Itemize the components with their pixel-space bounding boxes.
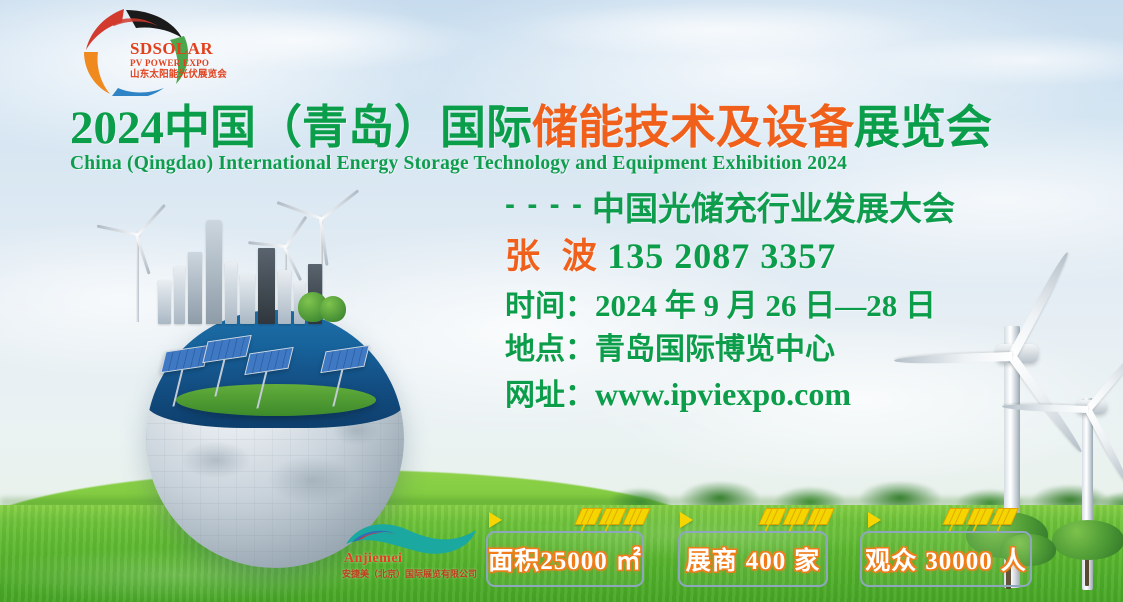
contact-name: 张 波 xyxy=(505,237,603,276)
date-label: 时间： xyxy=(505,290,595,323)
venue-value: 青岛国际博览中心 xyxy=(595,333,835,366)
arrow-icon-1 xyxy=(489,512,502,528)
conference-title: 中国光储充行业发展大会 xyxy=(592,190,955,227)
stat-badge-visitors: 观众 30000 人 xyxy=(860,531,1032,587)
stat-badge-area: 面积25000 ㎡ xyxy=(486,531,644,587)
logo-sub-text: PV POWER EXPO xyxy=(130,59,240,68)
logo-text-block: SDSOLAR PV POWER EXPO 山东太阳能光伏展览会 xyxy=(130,40,240,80)
url-label: 网址： xyxy=(505,379,595,412)
dash-prefix: - - - - xyxy=(505,190,584,220)
stat-badge-exhibitors-text: 展商 400 家 xyxy=(686,541,820,577)
solar-panel-cluster-3 xyxy=(946,506,1022,532)
title-part2: 展览会 xyxy=(854,101,992,153)
organizer-en-name: Anjiemei xyxy=(344,551,402,567)
title-highlight: 储能技术及设备 xyxy=(532,101,854,153)
organizer-logo: Anjiemei 安捷美（北京）国际展览有限公司 xyxy=(336,518,482,584)
contact-line: 张 波 135 2087 3357 xyxy=(505,238,1105,274)
event-info-block: - - - -中国光储充行业发展大会 张 波 135 2087 3357 时间：… xyxy=(505,190,1105,424)
venue-label: 地点： xyxy=(505,333,595,366)
solar-panel-cluster-2 xyxy=(762,506,838,532)
date-value: 2024 年 9 月 26 日—28 日 xyxy=(595,288,936,323)
solar-panel-cluster-1 xyxy=(578,506,654,532)
contact-phone: 135 2087 3357 xyxy=(607,236,836,276)
venue-line: 地点：青岛国际博览中心 xyxy=(505,335,1105,365)
arrow-icon-2 xyxy=(680,512,693,528)
globe-cityscape xyxy=(152,204,352,324)
exhibition-banner: SDSOLAR PV POWER EXPO 山东太阳能光伏展览会 xyxy=(0,0,1123,602)
organizer-cn-name: 安捷美（北京）国际展览有限公司 xyxy=(342,567,477,580)
stat-badge-visitors-text: 观众 30000 人 xyxy=(865,541,1026,577)
conference-line: - - - -中国光储充行业发展大会 xyxy=(505,190,1105,225)
page-title: 2024中国（青岛）国际储能技术及设备展览会 xyxy=(70,104,1060,152)
title-english: China (Qingdao) International Energy Sto… xyxy=(70,153,1060,175)
globe-illustration xyxy=(88,190,458,490)
arrow-icon-3 xyxy=(868,512,881,528)
logo-chinese-text: 山东太阳能光伏展览会 xyxy=(130,70,240,80)
url-line: 网址：www.ipviexpo.com xyxy=(505,378,1105,411)
title-year: 2024 xyxy=(70,102,164,154)
url-value[interactable]: www.ipviexpo.com xyxy=(595,376,851,412)
date-line: 时间：2024 年 9 月 26 日—28 日 xyxy=(505,290,1105,322)
stat-badge-exhibitors: 展商 400 家 xyxy=(678,531,828,587)
sdsolar-logo: SDSOLAR PV POWER EXPO 山东太阳能光伏展览会 xyxy=(48,4,243,96)
title-part1: 中国（青岛）国际 xyxy=(164,101,532,153)
stat-badge-area-text: 面积25000 ㎡ xyxy=(488,541,641,577)
globe-green-land xyxy=(176,384,376,416)
logo-main-text: SDSOLAR xyxy=(130,40,240,57)
